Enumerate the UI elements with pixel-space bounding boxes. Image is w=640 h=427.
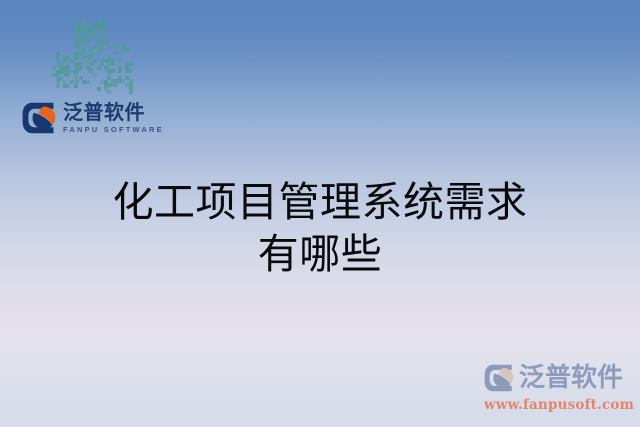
skyline-pixel: [118, 58, 122, 62]
skyline-pixel: [75, 55, 79, 59]
skyline-pixel: [104, 20, 108, 24]
skyline-pixel: [114, 51, 118, 55]
skyline-pixel: [86, 38, 90, 42]
skyline-pixel: [79, 66, 83, 70]
skyline-pixel: [86, 80, 90, 84]
skyline-pixel: [75, 69, 79, 73]
watermark: 泛普软件 www.fanpusoft.com: [484, 361, 634, 417]
skyline-pixel: [75, 80, 79, 84]
brand-name-cn: 泛普软件: [63, 102, 164, 123]
skyline-pixel: [89, 62, 93, 66]
skyline-pixel: [104, 31, 108, 35]
watermark-logo-row: 泛普软件: [484, 361, 634, 395]
skyline-pixel: [66, 84, 70, 88]
skyline-pixel: [93, 59, 97, 63]
brand-wordmark: 泛普软件 FANPU SOFTWARE: [63, 102, 164, 134]
skyline-pixel: [74, 84, 78, 88]
skyline-pixel: [100, 34, 104, 38]
skyline-pixel: [100, 48, 104, 52]
skyline-pixel: [118, 69, 122, 73]
skyline-pixel: [107, 44, 111, 48]
skyline-pixel: [82, 41, 86, 45]
skyline-pixel: [111, 62, 115, 66]
fanpu-watermark-logo-icon: [484, 364, 514, 392]
watermark-name-cn: 泛普软件: [519, 365, 623, 391]
pixel-skyline-icon: [48, 14, 138, 92]
skyline-pixel: [82, 48, 86, 52]
skyline-pixel: [56, 84, 60, 88]
skyline-pixel: [129, 69, 133, 73]
skyline-pixel: [111, 69, 115, 73]
skyline-pixel: [114, 83, 118, 87]
skyline-pixel: [97, 66, 101, 70]
brand-name-en: FANPU SOFTWARE: [63, 126, 164, 134]
skyline-pixel: [107, 90, 111, 94]
watermark-url: www.fanpusoft.com: [484, 397, 634, 413]
brand-logo: 泛普软件 FANPU SOFTWARE: [22, 98, 172, 138]
skyline-pixel: [129, 90, 133, 94]
skyline-pixel: [129, 62, 133, 66]
skyline-pixel: [93, 73, 97, 77]
skyline-pixel: [66, 73, 70, 77]
fanpu-logo-icon: [22, 102, 56, 134]
page-title: 化工项目管理系统需求 有哪些: [0, 176, 640, 280]
slide-canvas: 泛普软件 FANPU SOFTWARE 化工项目管理系统需求 有哪些 泛普软件 …: [0, 0, 640, 427]
skyline-pixel: [97, 52, 101, 56]
skyline-pixel: [97, 87, 101, 91]
skyline-pixel: [125, 48, 129, 52]
